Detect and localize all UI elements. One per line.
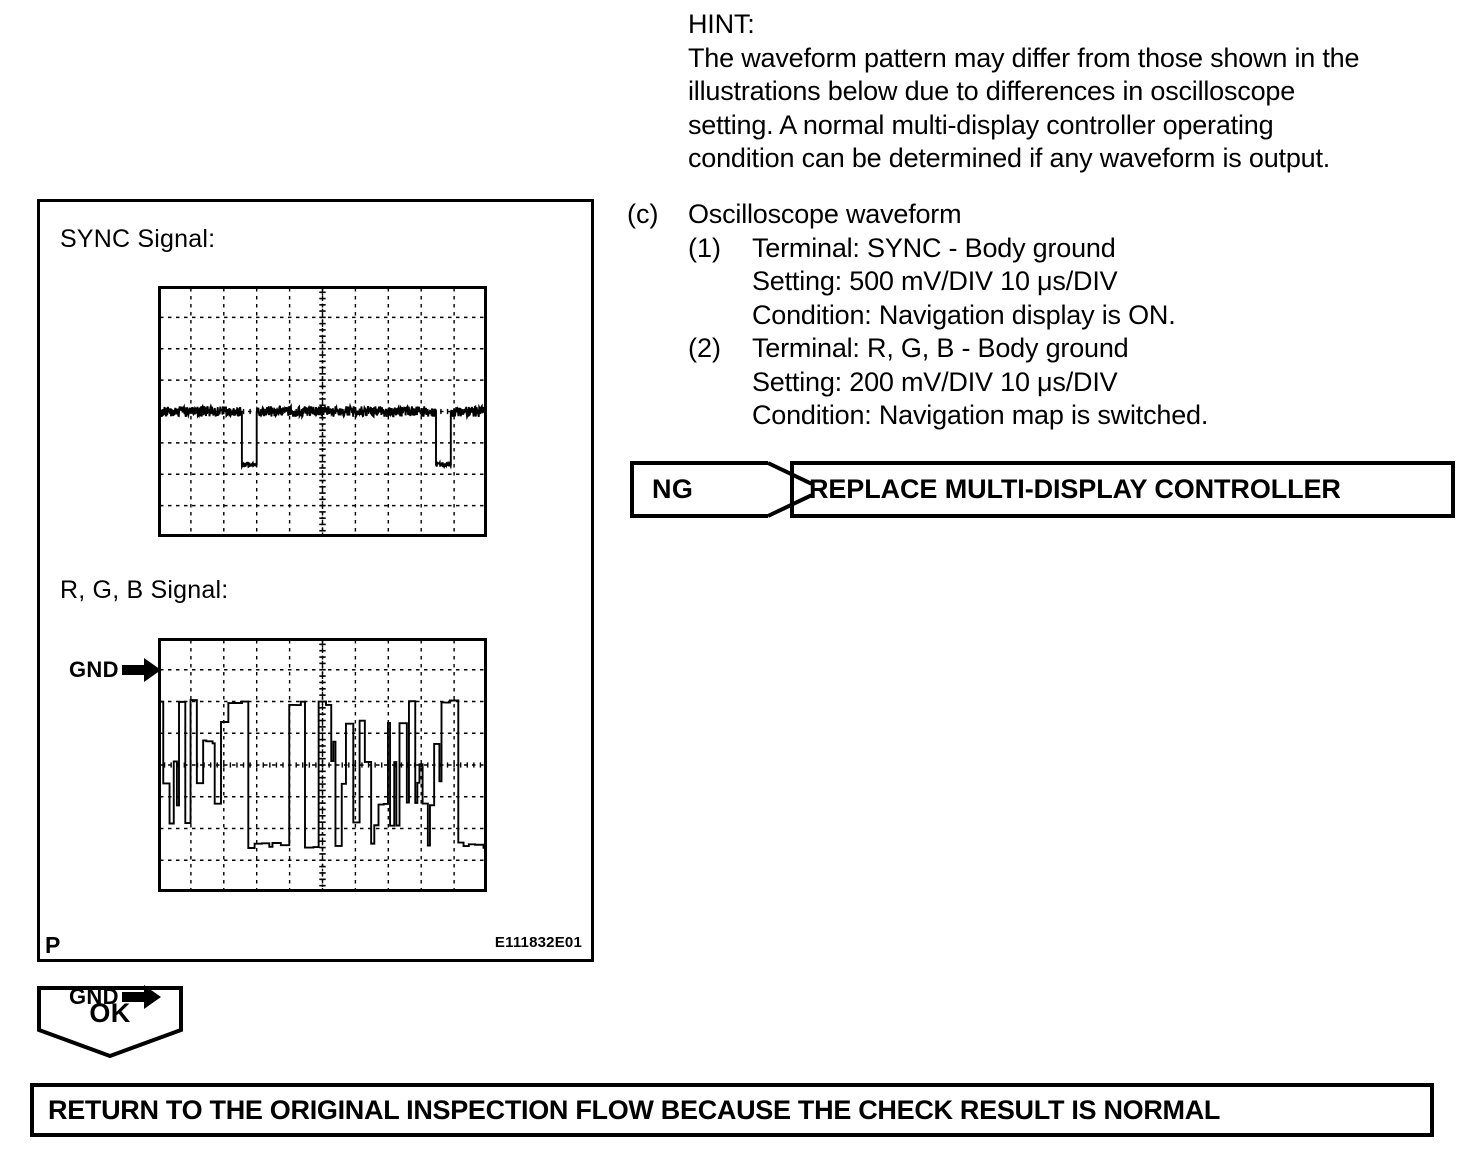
ng-branch: NG REPLACE MULTI-DISPLAY CONTROLLER xyxy=(630,461,1455,518)
arrow-right-icon xyxy=(122,657,162,683)
procedure-step-c: (c) Oscilloscope waveform (1) Terminal: … xyxy=(627,198,1447,433)
rgb-gnd-marker: GND xyxy=(69,984,162,1010)
item-line-setting: Setting: 200 mV/DIV 10 μs/DIV xyxy=(752,366,1208,400)
item-line-setting: Setting: 500 mV/DIV 10 μs/DIV xyxy=(752,265,1176,299)
ng-result-box: REPLACE MULTI-DISPLAY CONTROLLER xyxy=(790,461,1455,518)
sync-oscilloscope-screen xyxy=(158,286,487,537)
step-title: Oscilloscope waveform xyxy=(688,198,961,232)
sync-gnd-marker: GND xyxy=(69,657,162,683)
procedure-sub-list: (1) Terminal: SYNC - Body ground Setting… xyxy=(688,232,1447,433)
item-line-condition: Condition: Navigation display is ON. xyxy=(752,299,1176,333)
item-line-condition: Condition: Navigation map is switched. xyxy=(752,399,1208,433)
item-marker: (1) xyxy=(688,232,752,266)
ok-result-box: RETURN TO THE ORIGINAL INSPECTION FLOW B… xyxy=(30,1083,1434,1137)
ng-judgement-arrow: NG xyxy=(630,461,768,518)
gnd-label: GND xyxy=(69,657,119,683)
item-line-terminal: Terminal: R, G, B - Body ground xyxy=(752,332,1208,366)
sync-signal-title: SYNC Signal: xyxy=(60,225,215,254)
item-line-terminal: Terminal: SYNC - Body ground xyxy=(752,232,1176,266)
hint-line: The waveform pattern may differ from tho… xyxy=(688,42,1456,76)
ng-label: NG xyxy=(652,474,693,505)
ng-result-text: REPLACE MULTI-DISPLAY CONTROLLER xyxy=(809,474,1341,505)
procedure-item-2: (2) Terminal: R, G, B - Body ground Sett… xyxy=(688,332,1447,433)
figure-code: E111832E01 xyxy=(495,934,582,951)
gnd-label: GND xyxy=(69,984,119,1010)
ok-result-text: RETURN TO THE ORIGINAL INSPECTION FLOW B… xyxy=(48,1095,1220,1126)
hint-block: HINT: The waveform pattern may differ fr… xyxy=(688,8,1456,176)
step-c-heading: (c) Oscilloscope waveform xyxy=(627,198,1447,232)
procedure-item-1: (1) Terminal: SYNC - Body ground Setting… xyxy=(688,232,1447,333)
hint-heading: HINT: xyxy=(688,8,1456,42)
illustration-panel: SYNC Signal: GND R, G, B Signal: GND P E… xyxy=(37,199,594,962)
hint-line: setting. A normal multi-display controll… xyxy=(688,109,1456,143)
page-mark: P xyxy=(45,934,60,957)
hint-line: illustrations below due to differences i… xyxy=(688,75,1456,109)
rgb-signal-title: R, G, B Signal: xyxy=(60,576,228,605)
hint-line: condition can be determined if any wavef… xyxy=(688,142,1456,176)
rgb-oscilloscope-screen xyxy=(158,638,487,892)
item-marker: (2) xyxy=(688,332,752,366)
step-marker: (c) xyxy=(627,198,688,232)
arrow-right-icon xyxy=(122,984,162,1010)
